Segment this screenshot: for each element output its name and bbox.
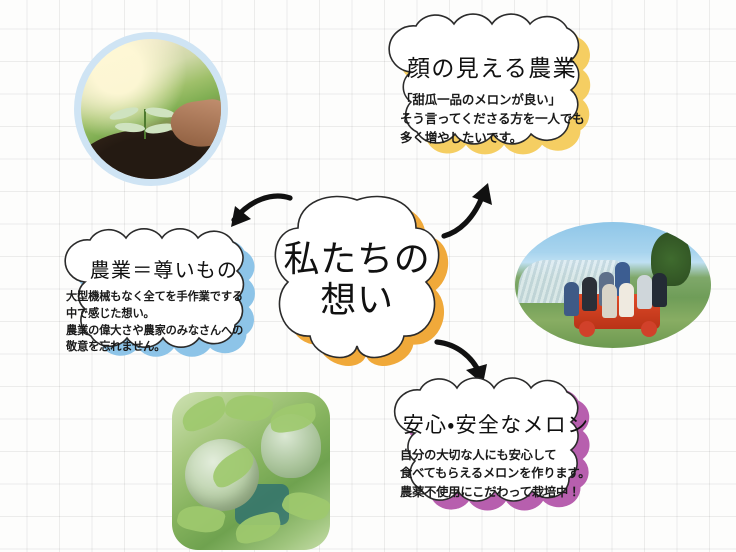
people-group [562, 257, 672, 315]
bubble-face-of-farming: 顔の見える農業 「甜瓜一品のメロンが良い」 そう言ってくださる方を一人でも 多く… [372, 18, 612, 176]
bubble-center-title: 私たちの 想い [266, 238, 448, 320]
bubble-face-line-3: 多く増やしたいです。 [400, 129, 612, 148]
bubble-center-title-line-2: 想い [320, 279, 393, 320]
photo-melon [172, 392, 330, 550]
bubble-face-line-1: 「甜瓜一品のメロンが良い」 [400, 91, 612, 110]
bubble-safe-body: 自分の大切な人にも安心して 食べてもらえるメロンを作ります。 農薬不使用にこだわ… [400, 446, 614, 501]
person [652, 273, 667, 307]
bubble-safe-content: 安心・安全なメロン 自分の大切な人にも安心して 食べてもらえるメロンを作ります。… [378, 382, 614, 501]
bubble-safe-line-2: 食べてもらえるメロンを作ります。 [400, 464, 614, 482]
bubble-center-content: 私たちの 想い [266, 196, 448, 320]
bubble-safe-melon: 安心・安全なメロン 自分の大切な人にも安心して 食べてもらえるメロンを作ります。… [378, 382, 614, 528]
bubble-face-line-2: そう言ってくださる方を一人でも [400, 110, 612, 129]
photo-seedling [74, 32, 228, 186]
bubble-noble-line-3: 農業の偉大さや農家のみなさんへの [66, 323, 278, 340]
bubble-noble-line-2: 中で感じた想い。 [66, 306, 278, 323]
bubble-face-body: 「甜瓜一品のメロンが良い」 そう言ってくださる方を一人でも 多く増やしたいです。 [400, 91, 612, 148]
bubble-center-our-thoughts: 私たちの 想い [266, 196, 448, 366]
bubble-center-title-line-1: 私たちの [284, 238, 431, 279]
melon-leaf [178, 394, 230, 434]
bubble-noble-body: 大型機械もなく全てを手作業でする 中で感じた想い。 農業の偉大さや農家のみなさん… [66, 289, 278, 356]
person [619, 283, 634, 317]
person [582, 277, 597, 311]
bubble-safe-line-3: 農薬不使用にこだわって栽培中！ [400, 483, 614, 501]
bubble-noble-line-4: 敬意を忘れません。 [66, 339, 278, 356]
bubble-face-title: 顔の見える農業 [372, 49, 612, 83]
sprout-stem [144, 109, 146, 139]
sprout-leaf [108, 106, 139, 122]
bubble-noble-title: 農業＝尊いもの [50, 254, 278, 283]
person [637, 275, 652, 309]
person [602, 284, 617, 318]
bubble-noble-content: 農業＝尊いもの 大型機械もなく全てを手作業でする 中で感じた想い。 農業の偉大さ… [50, 232, 278, 356]
bubble-safe-title: 安心・安全なメロン [378, 409, 614, 439]
bubble-noble-line-1: 大型機械もなく全てを手作業でする [66, 289, 278, 306]
bubble-safe-line-1: 自分の大切な人にも安心して [400, 446, 614, 464]
bubble-noble-farming: 農業＝尊いもの 大型機械もなく全てを手作業でする 中で感じた想い。 農業の偉大さ… [50, 232, 278, 374]
melon-leaf [224, 392, 274, 425]
poster-canvas: 顔の見える農業 「甜瓜一品のメロンが良い」 そう言ってくださる方を一人でも 多く… [0, 0, 736, 552]
arrow-to-face [440, 176, 516, 242]
photo-group [515, 222, 711, 348]
bubble-face-content: 顔の見える農業 「甜瓜一品のメロンが良い」 そう言ってくださる方を一人でも 多く… [372, 18, 612, 148]
person [564, 282, 579, 316]
